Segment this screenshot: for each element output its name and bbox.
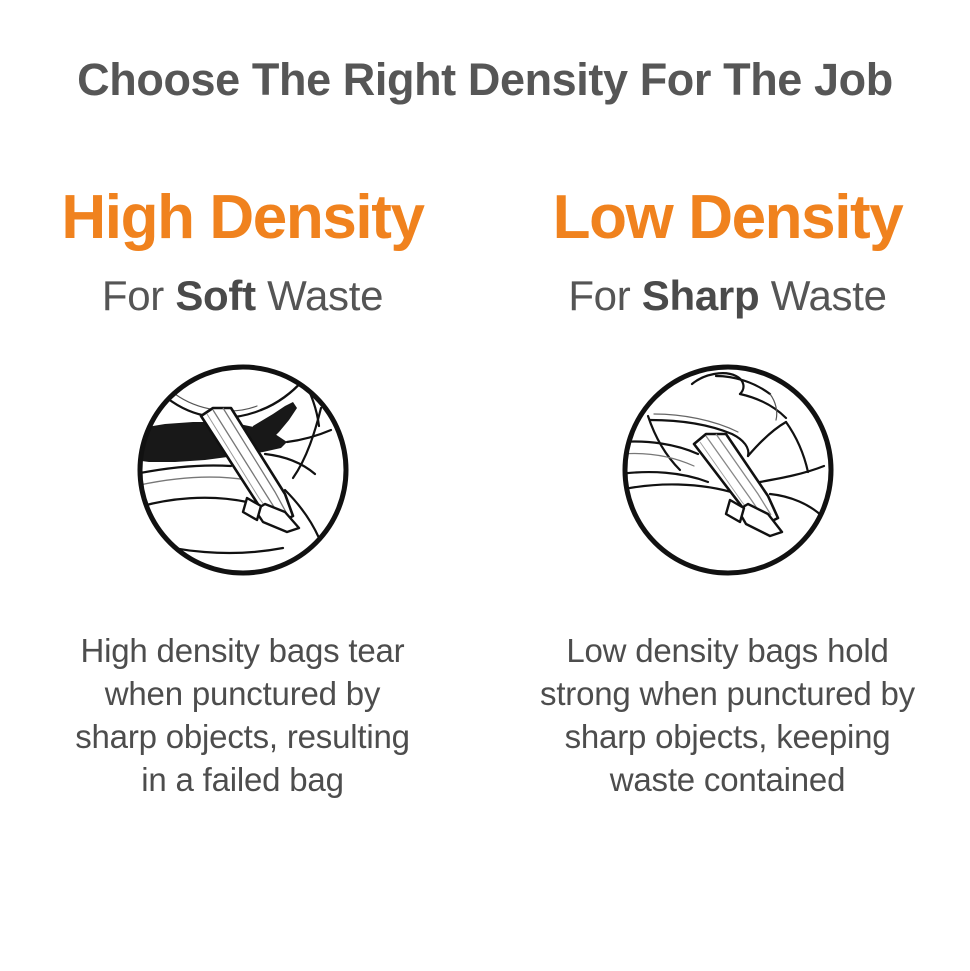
heading-high-density: High Density <box>61 185 423 250</box>
comparison-columns: High Density For Soft Waste <box>0 185 970 802</box>
subtitle-sharp-waste: For Sharp Waste <box>568 272 886 320</box>
subtitle-emphasis: Soft <box>175 272 255 319</box>
caption-line: Low density bags hold <box>513 630 943 673</box>
column-high-density: High Density For Soft Waste <box>0 185 485 802</box>
density-comparison-infographic: Choose The Right Density For The Job Hig… <box>0 0 970 971</box>
caption-line: sharp objects, resulting <box>28 716 458 759</box>
bag-holding-sharp-object-illustration <box>620 362 836 578</box>
heading-low-density: Low Density <box>553 185 903 250</box>
subtitle-suffix: Waste <box>759 272 886 319</box>
caption-high-density: High density bags tear when punctured by… <box>28 630 458 802</box>
subtitle-emphasis: Sharp <box>642 272 760 319</box>
caption-line: in a failed bag <box>28 759 458 802</box>
subtitle-prefix: For <box>568 272 641 319</box>
caption-line: strong when punctured by <box>513 673 943 716</box>
caption-line: waste contained <box>513 759 943 802</box>
caption-line: High density bags tear <box>28 630 458 673</box>
caption-line: when punctured by <box>28 673 458 716</box>
column-low-density: Low Density For Sharp Waste <box>485 185 970 802</box>
caption-low-density: Low density bags hold strong when punctu… <box>513 630 943 802</box>
caption-line: sharp objects, keeping <box>513 716 943 759</box>
subtitle-prefix: For <box>102 272 175 319</box>
page-title: Choose The Right Density For The Job <box>0 54 970 106</box>
subtitle-soft-waste: For Soft Waste <box>102 272 383 320</box>
subtitle-suffix: Waste <box>256 272 383 319</box>
bag-torn-by-sharp-object-illustration <box>135 362 351 578</box>
